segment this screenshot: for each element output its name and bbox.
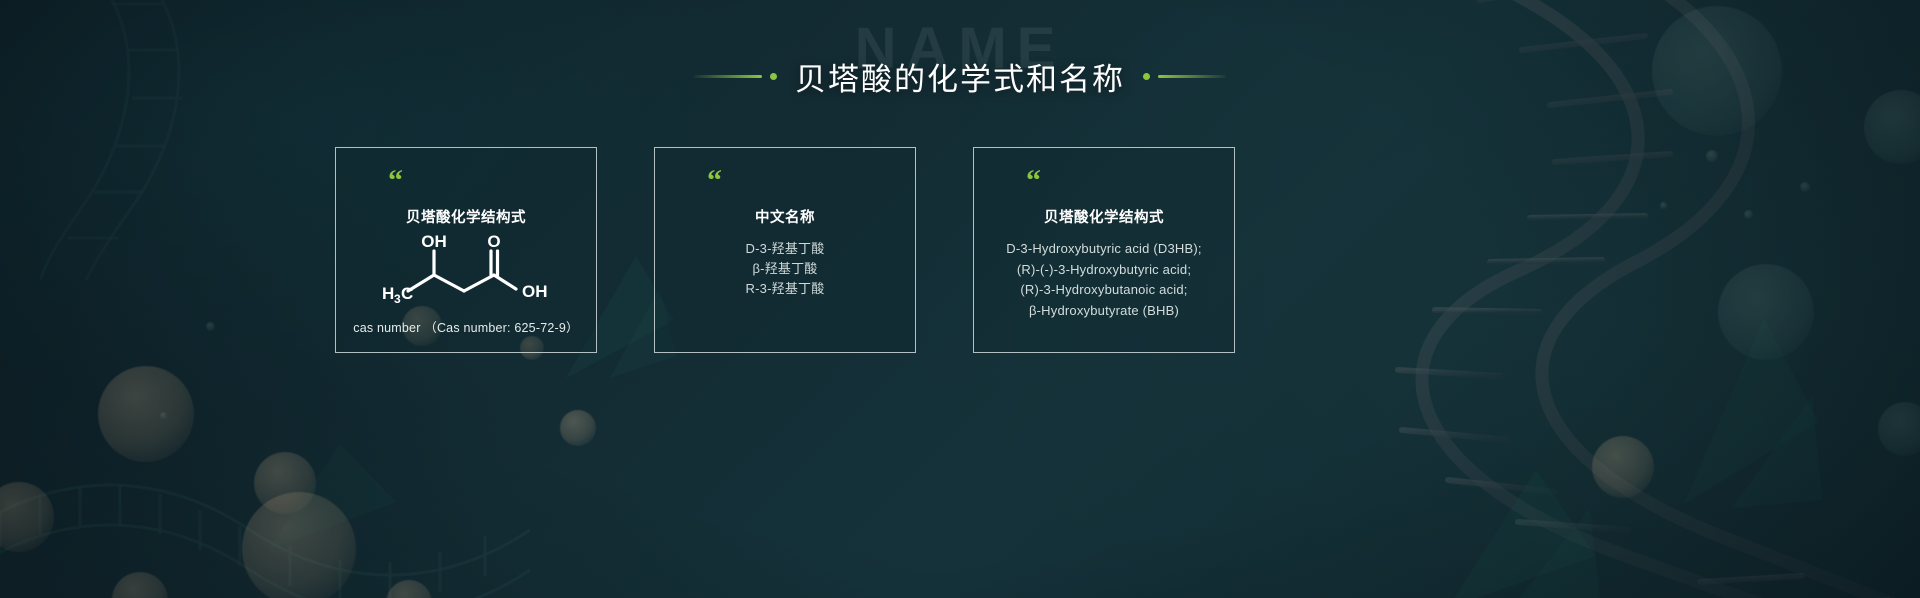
bokeh-circle bbox=[1878, 402, 1920, 456]
bokeh-circle bbox=[1744, 210, 1753, 219]
card-line: (R)-(-)-3-Hydroxybutyric acid; bbox=[1006, 260, 1201, 281]
card-line: D-3-羟基丁酸 bbox=[746, 239, 825, 259]
slide-canvas: NAME 贝塔酸的化学式和名称 “ 贝塔酸化学结构式 bbox=[0, 0, 1920, 598]
dna-strand-icon bbox=[0, 380, 530, 598]
card-line: (R)-3-Hydroxybutanoic acid; bbox=[1006, 280, 1201, 301]
quote-icon: “ bbox=[707, 170, 722, 190]
polygon-shard-icon bbox=[1672, 300, 1822, 510]
svg-text:H: H bbox=[382, 284, 394, 303]
bokeh-circle bbox=[0, 482, 54, 552]
quote-icon: “ bbox=[1026, 170, 1041, 190]
bokeh-circle bbox=[206, 322, 215, 331]
bokeh-circle bbox=[254, 452, 316, 514]
cas-number-text: cas number （Cas number: 625-72-9） bbox=[336, 317, 596, 336]
title-decoration-right bbox=[1143, 73, 1226, 80]
polygon-shard-icon bbox=[1440, 460, 1600, 598]
info-card-structure[interactable]: “ 贝塔酸化学结构式 bbox=[335, 147, 597, 353]
info-card-list: “ 贝塔酸化学结构式 bbox=[335, 147, 1235, 353]
svg-text:OH: OH bbox=[522, 282, 548, 301]
bokeh-circle bbox=[1660, 202, 1667, 209]
title-decoration-left bbox=[694, 73, 777, 80]
svg-text:OH: OH bbox=[421, 233, 447, 251]
title-row: 贝塔酸的化学式和名称 bbox=[694, 33, 1226, 120]
card-heading: 贝塔酸化学结构式 bbox=[406, 206, 526, 227]
bokeh-circle bbox=[560, 410, 596, 446]
hydroxybutyric-acid-skeletal-icon: OH O OH H 3 C bbox=[376, 233, 556, 305]
slide-header: NAME 贝塔酸的化学式和名称 bbox=[0, 18, 1920, 104]
card-line: R-3-羟基丁酸 bbox=[746, 279, 825, 299]
polygon-shard-icon bbox=[268, 432, 398, 552]
card-heading: 中文名称 bbox=[755, 206, 815, 227]
bokeh-circle bbox=[1718, 264, 1814, 360]
svg-text:O: O bbox=[487, 233, 500, 251]
decoration-bar-icon bbox=[1158, 75, 1226, 78]
page-title: 贝塔酸的化学式和名称 bbox=[795, 54, 1125, 99]
bokeh-circle bbox=[112, 572, 168, 598]
card-line-list: D-3-羟基丁酸 β-羟基丁酸 R-3-羟基丁酸 bbox=[746, 239, 825, 299]
bokeh-circle bbox=[242, 492, 356, 598]
decoration-bar-icon bbox=[694, 75, 762, 78]
card-line: β-Hydroxybutyrate (BHB) bbox=[1006, 301, 1201, 322]
bokeh-circle bbox=[160, 412, 167, 419]
decoration-dot-icon bbox=[1143, 73, 1150, 80]
card-line-list: D-3-Hydroxybutyric acid (D3HB); (R)-(-)-… bbox=[1006, 239, 1201, 321]
bokeh-circle bbox=[1592, 436, 1654, 498]
info-card-english-names[interactable]: “ 贝塔酸化学结构式 D-3-Hydroxybutyric acid (D3HB… bbox=[973, 147, 1235, 353]
bokeh-circle bbox=[1706, 150, 1718, 162]
card-line: β-羟基丁酸 bbox=[746, 259, 825, 279]
svg-text:C: C bbox=[401, 284, 413, 303]
bokeh-circle bbox=[1800, 182, 1810, 192]
card-line: D-3-Hydroxybutyric acid (D3HB); bbox=[1006, 239, 1201, 260]
info-card-chinese-names[interactable]: “ 中文名称 D-3-羟基丁酸 β-羟基丁酸 R-3-羟基丁酸 bbox=[654, 147, 916, 353]
molecule-structure-diagram: OH O OH H 3 C bbox=[376, 233, 556, 310]
bokeh-circle bbox=[386, 580, 432, 598]
card-heading: 贝塔酸化学结构式 bbox=[1044, 206, 1164, 227]
svg-text:3: 3 bbox=[394, 292, 401, 305]
decoration-dot-icon bbox=[770, 73, 777, 80]
quote-icon: “ bbox=[388, 170, 403, 190]
bokeh-circle bbox=[98, 366, 194, 462]
